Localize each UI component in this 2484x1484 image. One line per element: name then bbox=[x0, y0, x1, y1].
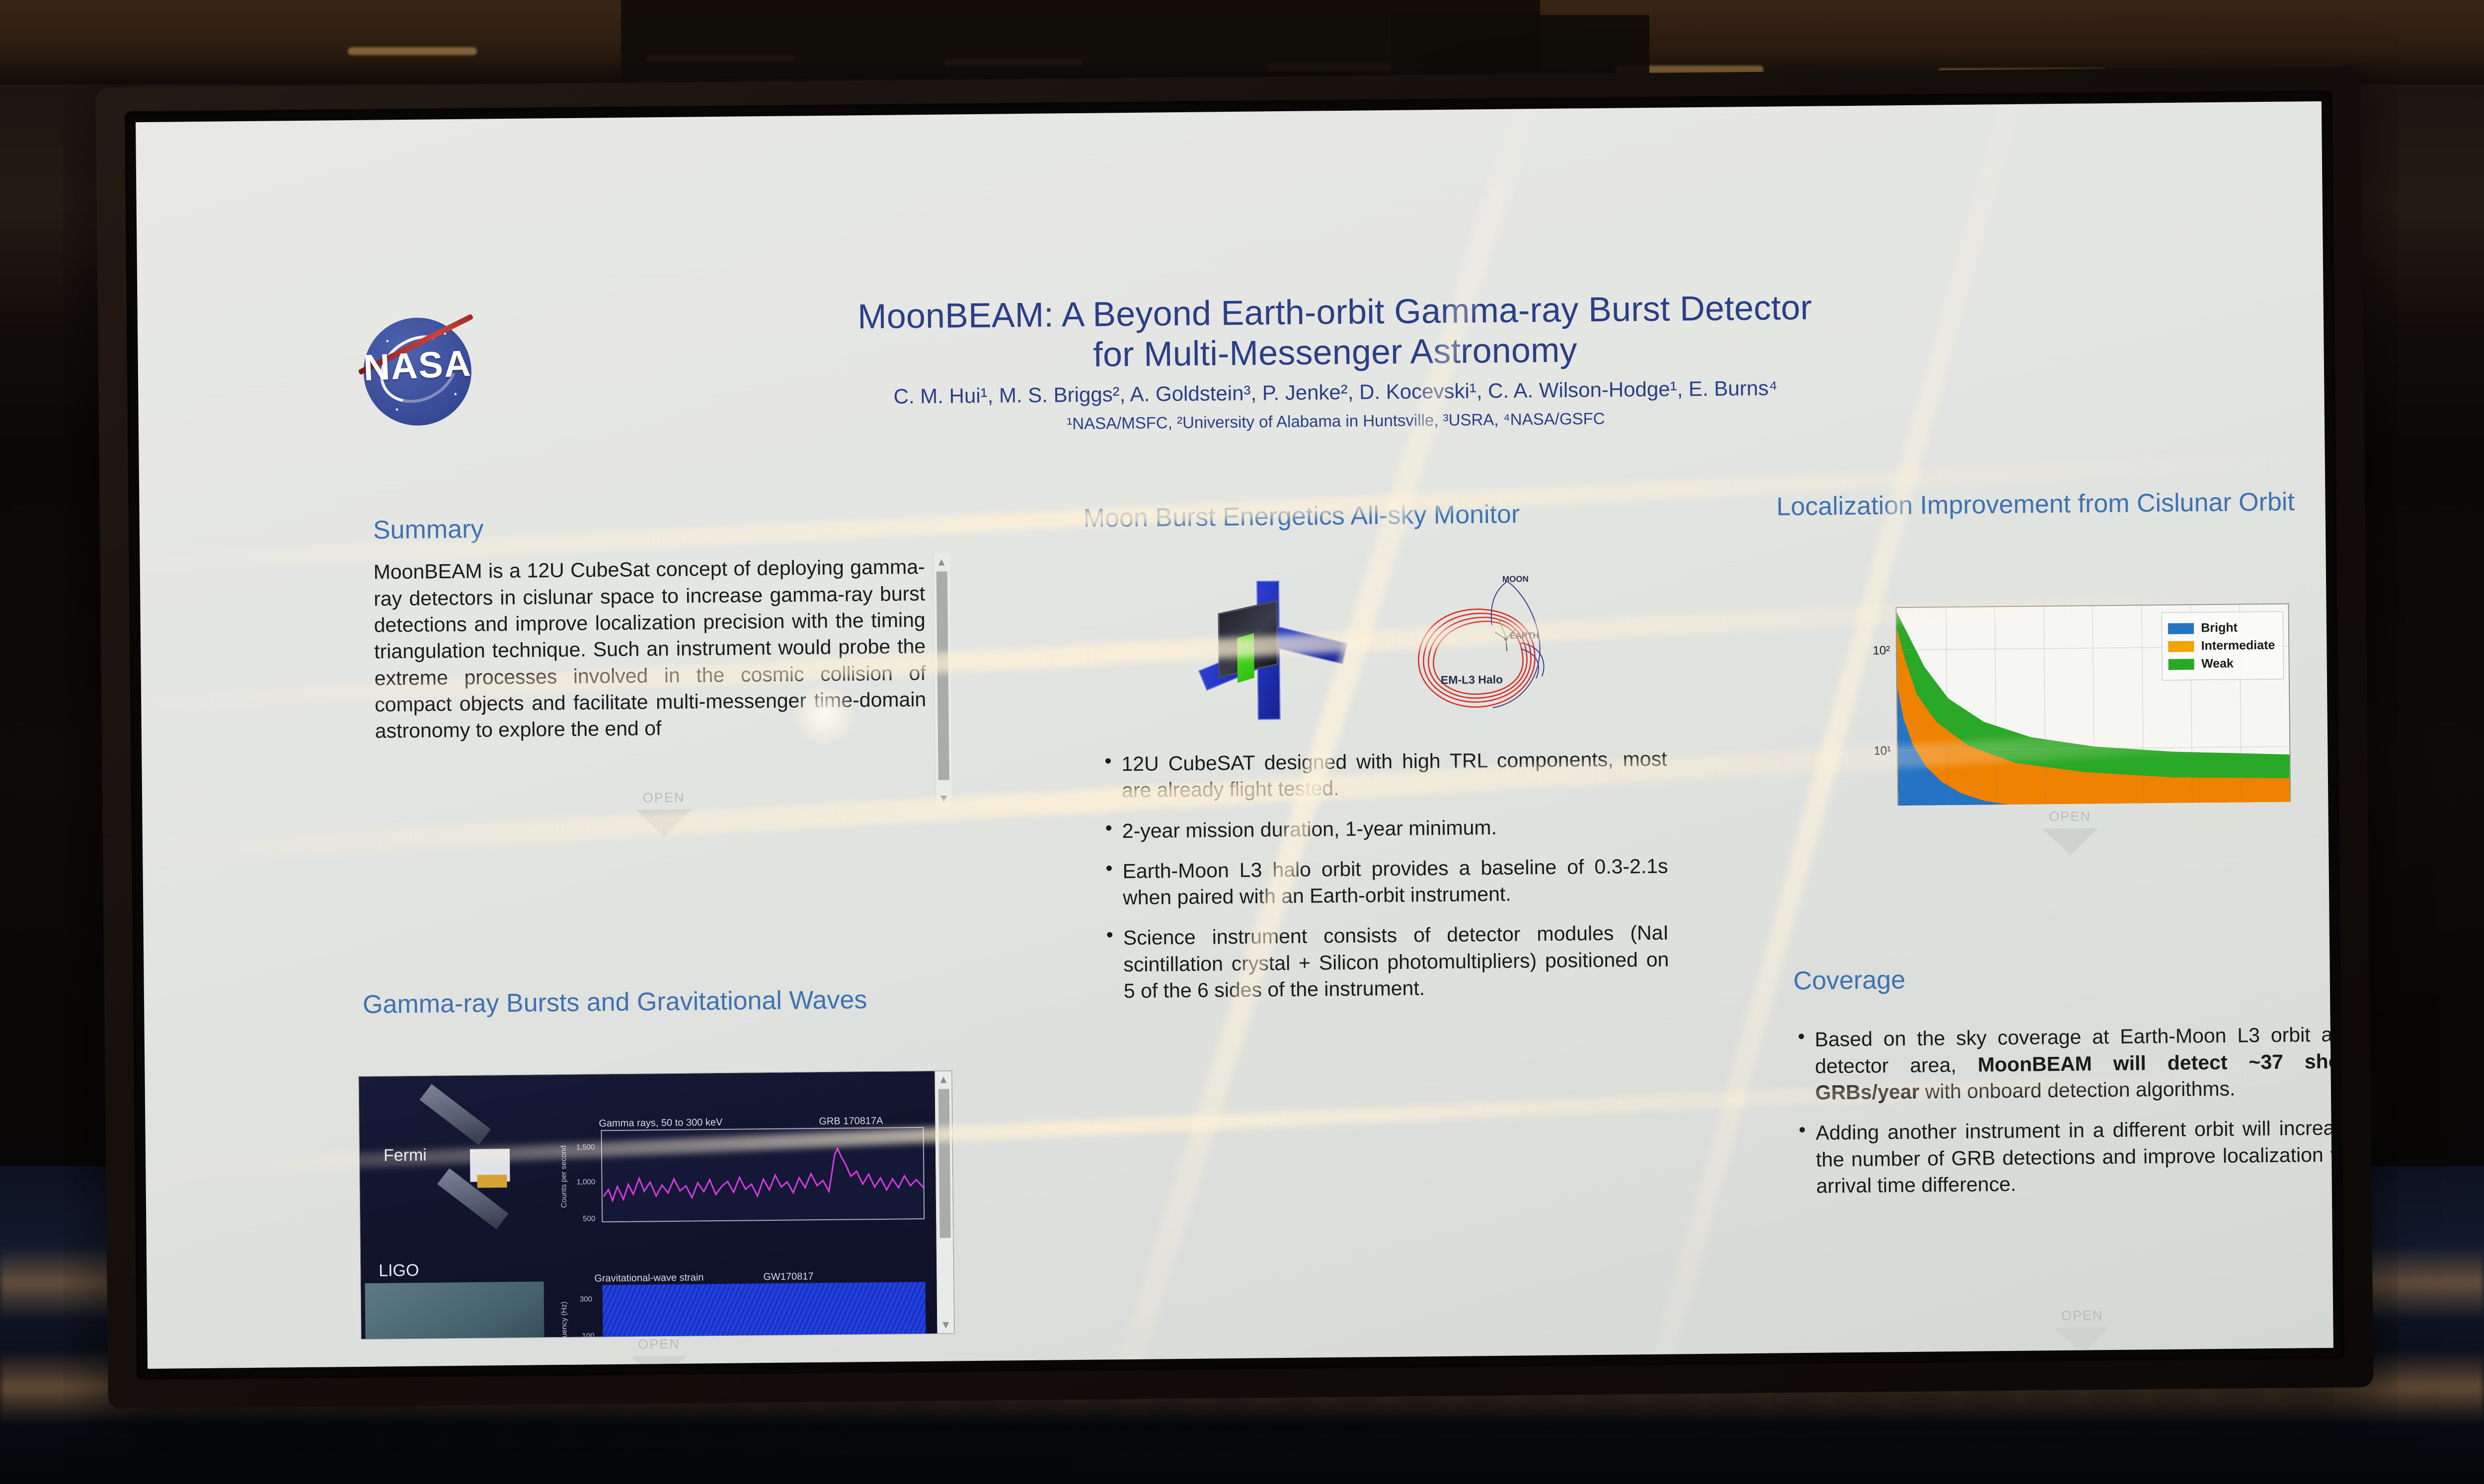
summary-text: MoonBEAM is a 12U CubeSat concept of dep… bbox=[373, 554, 927, 744]
gamma-lightcurve-plot bbox=[601, 1127, 925, 1222]
scroll-up-icon[interactable]: ▲ bbox=[933, 555, 949, 570]
gw-spectrogram bbox=[603, 1282, 927, 1339]
halo-orbit-figure: MOON EARTH EM-L3 Halo bbox=[1392, 573, 1557, 724]
mbeam-heading: Moon Burst Energetics All-sky Monitor bbox=[1083, 497, 1675, 534]
ceiling-panel bbox=[1391, 15, 1649, 79]
panel-mbeam[interactable]: Moon Burst Energetics All-sky Monitor bbox=[1083, 497, 1675, 534]
nasa-logo: NASA bbox=[356, 310, 479, 433]
nasa-wordmark: NASA bbox=[356, 342, 479, 389]
open-label: OPEN bbox=[643, 790, 685, 806]
poster-title-block: MoonBEAM: A Beyond Earth-orbit Gamma-ray… bbox=[723, 286, 1947, 436]
summary-scroll-region[interactable]: MoonBEAM is a 12U CubeSat concept of dep… bbox=[373, 554, 952, 813]
open-label: OPEN bbox=[2049, 809, 2091, 824]
scrollbar-thumb[interactable] bbox=[938, 1089, 951, 1238]
list-item: Based on the sky coverage at Earth-Moon … bbox=[1794, 1022, 2333, 1107]
gw-plot-title: Gravitational-wave strain bbox=[594, 1272, 703, 1284]
gamma-event-label: GRB 170817A bbox=[819, 1115, 883, 1127]
orbit-trace bbox=[1392, 573, 1557, 724]
affiliation-list: ¹NASA/MSFC, ²University of Alabama in Hu… bbox=[725, 406, 1947, 437]
gamma-ytick-1500: 1,500 bbox=[576, 1143, 595, 1151]
grb-gw-open-toggle[interactable]: OPEN bbox=[610, 1336, 709, 1369]
list-item: 12U CubeSAT designed with high TRL compo… bbox=[1100, 746, 1667, 805]
list-item: Science instrument consists of detector … bbox=[1102, 920, 1669, 1005]
earth-label: EARTH bbox=[1510, 631, 1539, 641]
grb-gw-scrollbar[interactable]: ▲ ▼ bbox=[934, 1071, 954, 1333]
gw-chirp-track bbox=[676, 1288, 911, 1339]
mbeam-bullet-list: 12U CubeSAT designed with high TRL compo… bbox=[1100, 746, 1669, 1019]
gw-ytick-100: 100 bbox=[582, 1332, 594, 1339]
fermi-ligo-figure[interactable]: Fermi LIGO Gamma rays, 50 to 300 keV GRB… bbox=[358, 1070, 954, 1339]
star-icon bbox=[396, 408, 398, 411]
localization-open-toggle[interactable]: OPEN bbox=[2020, 809, 2120, 856]
screen: NASA MoonBEAM: A Beyond Earth-orbit Gamm… bbox=[136, 101, 2333, 1369]
list-item: Earth-Moon L3 halo orbit provides a base… bbox=[1101, 853, 1668, 912]
legend-label: Bright bbox=[2201, 621, 2238, 636]
ligo-photo bbox=[365, 1281, 544, 1339]
coverage-bullet-list: Based on the sky coverage at Earth-Moon … bbox=[1794, 1022, 2333, 1200]
gw-y-axis-label: Frequency (Hz) bbox=[560, 1302, 569, 1339]
detector-module bbox=[1237, 633, 1254, 683]
open-label: OPEN bbox=[638, 1336, 680, 1352]
star-icon bbox=[386, 340, 388, 342]
chevron-down-icon bbox=[631, 1356, 688, 1369]
chevron-down-icon bbox=[2042, 828, 2098, 855]
chart-plot-area: Bright Intermediate Weak bbox=[1896, 603, 2291, 806]
legend-entry-bright: Bright bbox=[2168, 620, 2275, 636]
chart-ytick-lower: 10¹ bbox=[1854, 744, 1891, 758]
orbit-label: EM-L3 Halo bbox=[1441, 673, 1503, 687]
solar-panel-right bbox=[1269, 625, 1348, 664]
panel-grb-gw[interactable]: Gamma-ray Bursts and Gravitational Waves bbox=[363, 983, 959, 1021]
coverage-bullet-1-post: with onboard detection algorithms. bbox=[1919, 1077, 2235, 1103]
gamma-y-axis-label: Counts per second bbox=[559, 1145, 568, 1208]
gamma-plot-title: Gamma rays, 50 to 300 keV bbox=[599, 1117, 722, 1129]
list-item: Adding another instrument in a different… bbox=[1794, 1115, 2333, 1200]
star-icon bbox=[454, 393, 457, 395]
gamma-ytick-1000: 1,000 bbox=[576, 1178, 595, 1186]
legend-entry-weak: Weak bbox=[2169, 656, 2275, 671]
ceiling-light bbox=[348, 47, 477, 55]
iposter-page: NASA MoonBEAM: A Beyond Earth-orbit Gamm… bbox=[136, 101, 2333, 1369]
monitor: NASA MoonBEAM: A Beyond Earth-orbit Gamm… bbox=[95, 66, 2373, 1409]
panel-localization[interactable]: Localization Improvement from Cislunar O… bbox=[1776, 486, 2333, 523]
localization-chart[interactable]: Annulus Width [deg] 10² 10¹ bbox=[1842, 603, 2291, 807]
gw-event-label: GW170817 bbox=[763, 1271, 813, 1283]
scroll-down-icon[interactable]: ▼ bbox=[935, 791, 952, 806]
localization-heading: Localization Improvement from Cislunar O… bbox=[1776, 486, 2333, 523]
list-item: 2-year mission duration, 1-year minimum. bbox=[1101, 813, 1668, 844]
summary-scrollbar[interactable]: ▲ ▼ bbox=[932, 554, 952, 807]
chevron-down-icon bbox=[2054, 1327, 2110, 1354]
coverage-open-toggle[interactable]: OPEN bbox=[2032, 1308, 2132, 1355]
scroll-down-icon[interactable]: ▼ bbox=[937, 1317, 954, 1332]
gamma-ytick-500: 500 bbox=[583, 1214, 595, 1223]
open-label: OPEN bbox=[2061, 1308, 2103, 1323]
legend-swatch-intermediate bbox=[2169, 641, 2194, 652]
chart-legend: Bright Intermediate Weak bbox=[2162, 611, 2284, 680]
scroll-up-icon[interactable]: ▲ bbox=[935, 1072, 951, 1087]
monitor-bezel: NASA MoonBEAM: A Beyond Earth-orbit Gamm… bbox=[125, 90, 2344, 1380]
legend-swatch-bright bbox=[2168, 623, 2194, 634]
fermi-label: Fermi bbox=[384, 1146, 427, 1166]
gamma-lightcurve-trace bbox=[602, 1128, 926, 1223]
grb-gw-heading: Gamma-ray Bursts and Gravitational Waves bbox=[363, 984, 920, 1021]
legend-label: Intermediate bbox=[2201, 638, 2275, 653]
panel-summary[interactable]: Summary MoonBEAM is a 12U CubeSat concep… bbox=[373, 509, 952, 813]
gw-ytick-300: 300 bbox=[580, 1295, 592, 1303]
summary-heading: Summary bbox=[373, 509, 950, 546]
ligo-label: LIGO bbox=[379, 1261, 419, 1281]
cubesat-figure bbox=[1196, 580, 1351, 723]
legend-swatch-weak bbox=[2169, 659, 2194, 669]
legend-label: Weak bbox=[2201, 657, 2234, 671]
satellite-antenna-icon bbox=[477, 1175, 507, 1188]
author-list: C. M. Hui¹, M. S. Briggs², A. Goldstein³… bbox=[724, 374, 1946, 412]
coverage-heading: Coverage bbox=[1793, 960, 2333, 997]
legend-entry-intermediate: Intermediate bbox=[2169, 638, 2275, 654]
summary-open-toggle[interactable]: OPEN bbox=[614, 790, 714, 837]
satellite-panel-icon bbox=[420, 1084, 491, 1145]
panel-coverage[interactable]: Coverage Based on the sky coverage at Ea… bbox=[1793, 960, 2333, 1214]
moon-label: MOON bbox=[1502, 574, 1529, 585]
scrollbar-thumb[interactable] bbox=[936, 572, 949, 780]
chevron-down-icon bbox=[636, 809, 692, 836]
chart-ytick-upper: 10² bbox=[1853, 644, 1890, 658]
